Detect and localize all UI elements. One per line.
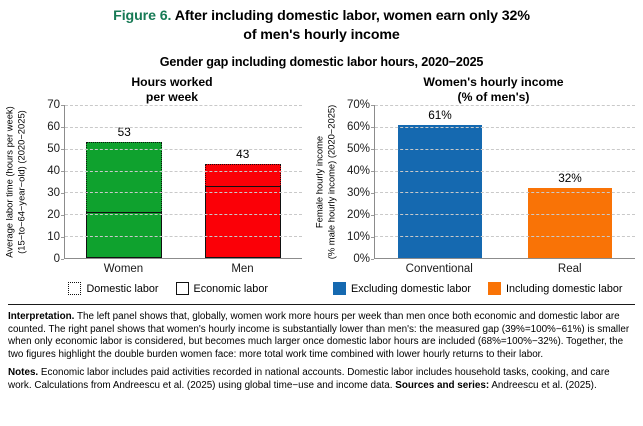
y-tick-label: 20 <box>47 209 60 221</box>
panel-title-line-1: Hours worked <box>131 75 212 89</box>
bar-value-label: 32% <box>528 171 611 185</box>
x-tick-label: Conventional <box>374 263 505 275</box>
gridline <box>65 105 302 106</box>
x-tick-label: Real <box>505 263 636 275</box>
y-tick-label: 30 <box>47 187 60 199</box>
y-tick-label: 40% <box>347 165 370 177</box>
bar-real[interactable]: 32% <box>528 188 611 258</box>
y-tick-label: 50 <box>47 143 60 155</box>
y-axis-ticks-hours: 010203040506070 <box>30 105 64 259</box>
bar-group-hours: 5343 <box>65 105 302 258</box>
panel-hours-worked: Hours worked per week Average labor time… <box>0 75 310 275</box>
bar-group-income: 61%32% <box>375 105 635 258</box>
y-tick-label: 0 <box>54 253 60 265</box>
footnote-interpretation-text: The left panel shows that, globally, wom… <box>8 311 629 360</box>
legend-swatch-icon <box>488 282 501 295</box>
figure-title: Figure 6. After including domestic labor… <box>0 0 643 45</box>
legend-label: Domestic labor <box>86 283 158 295</box>
bar-fill[interactable] <box>528 188 611 258</box>
y-axis-label-income: Female hourly income (% male hourly inco… <box>310 105 340 259</box>
gridline <box>65 214 302 215</box>
bar-slot: 53 <box>65 105 184 258</box>
y-tick-label: 0% <box>353 253 370 265</box>
legend-item[interactable]: Domestic labor <box>68 282 158 295</box>
gridline <box>375 171 635 172</box>
bar-fill[interactable] <box>398 125 481 258</box>
panel-womens-hourly-income: Women's hourly income (% of men's) Femal… <box>310 75 643 275</box>
footnote-notes: Notes. Economic labor includes paid acti… <box>8 367 635 392</box>
plot-area-income: 61%32% <box>374 105 635 259</box>
footnote-interpretation-label: Interpretation. <box>8 311 74 322</box>
plot-area-hours: 5343 <box>64 105 302 259</box>
gridline <box>375 192 635 193</box>
gridline <box>375 105 635 106</box>
gridline <box>65 236 302 237</box>
figure-subtitle: Gender gap including domestic labor hour… <box>0 55 643 69</box>
gridline <box>65 171 302 172</box>
chart-panels: Hours worked per week Average labor time… <box>0 75 643 275</box>
legend-swatch-icon <box>333 282 346 295</box>
y-tick-label: 10 <box>47 231 60 243</box>
footnote-sources-label: Sources and series: <box>395 380 489 391</box>
gridline <box>65 192 302 193</box>
footnote-interpretation: Interpretation. The left panel shows tha… <box>8 311 635 361</box>
legend-income: Excluding domestic laborIncluding domest… <box>322 282 643 295</box>
bar-slot: 32% <box>505 105 635 258</box>
footnotes: Interpretation. The left panel shows tha… <box>8 304 635 393</box>
y-axis-label-hours-line-1: Average labor time (hours per week) <box>4 106 15 257</box>
gridline <box>375 149 635 150</box>
bar-segment-economic-labor[interactable] <box>86 212 162 258</box>
bar-slot: 43 <box>184 105 303 258</box>
y-axis-label-income-line-1: Female hourly income <box>314 136 325 228</box>
y-axis-label-income-line-2: (% male hourly income) (2020−2025) <box>325 105 336 260</box>
gridline <box>65 127 302 128</box>
legend-label: Economic labor <box>194 283 268 295</box>
y-tick-label: 20% <box>347 209 370 221</box>
y-tick-label: 10% <box>347 231 370 243</box>
y-tick-label: 60 <box>47 121 60 133</box>
y-tick-label: 70% <box>347 99 370 111</box>
bar-conventional[interactable]: 61% <box>398 125 481 258</box>
legend-item[interactable]: Economic labor <box>176 282 268 295</box>
y-tick-label: 40 <box>47 165 60 177</box>
figure-number: Figure 6. <box>113 8 171 24</box>
bar-segment-domestic-labor[interactable] <box>86 142 162 212</box>
legend-item[interactable]: Excluding domestic labor <box>333 282 471 295</box>
bar-women[interactable]: 53 <box>86 142 162 258</box>
y-tick-label: 70 <box>47 99 60 111</box>
y-tick-label: 50% <box>347 143 370 155</box>
figure-title-line-2: of men's hourly income <box>243 27 399 43</box>
legend-item[interactable]: Including domestic labor <box>488 282 622 295</box>
bar-segment-domestic-labor[interactable] <box>205 164 281 186</box>
bar-slot: 61% <box>375 105 505 258</box>
gridline <box>65 149 302 150</box>
panel-title-income-line-1: Women's hourly income <box>423 75 563 89</box>
bar-segment-economic-labor[interactable] <box>205 186 281 258</box>
y-tick-label: 60% <box>347 121 370 133</box>
legend-swatch-icon <box>176 282 189 295</box>
legend-swatch-icon <box>68 282 81 295</box>
gridline <box>375 127 635 128</box>
gridline <box>375 214 635 215</box>
panel-title-income-line-2: (% of men's) <box>458 90 530 104</box>
legend-label: Excluding domestic labor <box>351 283 471 295</box>
bar-men[interactable]: 43 <box>205 164 281 258</box>
chart-legends: Domestic laborEconomic labor Excluding d… <box>0 282 643 295</box>
footnote-sources-text: Andreescu et al. (2025). <box>489 380 597 391</box>
y-axis-label-hours: Average labor time (hours per week) (15−… <box>0 105 30 259</box>
legend-hours-worked: Domestic laborEconomic labor <box>0 282 322 295</box>
gridline <box>375 236 635 237</box>
x-axis-labels-income: ConventionalReal <box>374 263 635 275</box>
x-axis-labels-hours: WomenMen <box>64 263 302 275</box>
bar-value-label: 61% <box>398 108 481 122</box>
y-tick-label: 30% <box>347 187 370 199</box>
legend-label: Including domestic labor <box>506 283 622 295</box>
x-tick-label: Women <box>64 263 183 275</box>
footnote-notes-label: Notes. <box>8 367 38 378</box>
panel-title-line-2: per week <box>146 90 198 104</box>
y-axis-label-hours-line-2: (15−to−64−year−old) (2020−2025) <box>15 110 26 254</box>
y-axis-ticks-income: 0%10%20%30%40%50%60%70% <box>340 105 374 259</box>
x-tick-label: Men <box>183 263 302 275</box>
figure-title-line-1: After including domestic labor, women ea… <box>175 8 530 24</box>
